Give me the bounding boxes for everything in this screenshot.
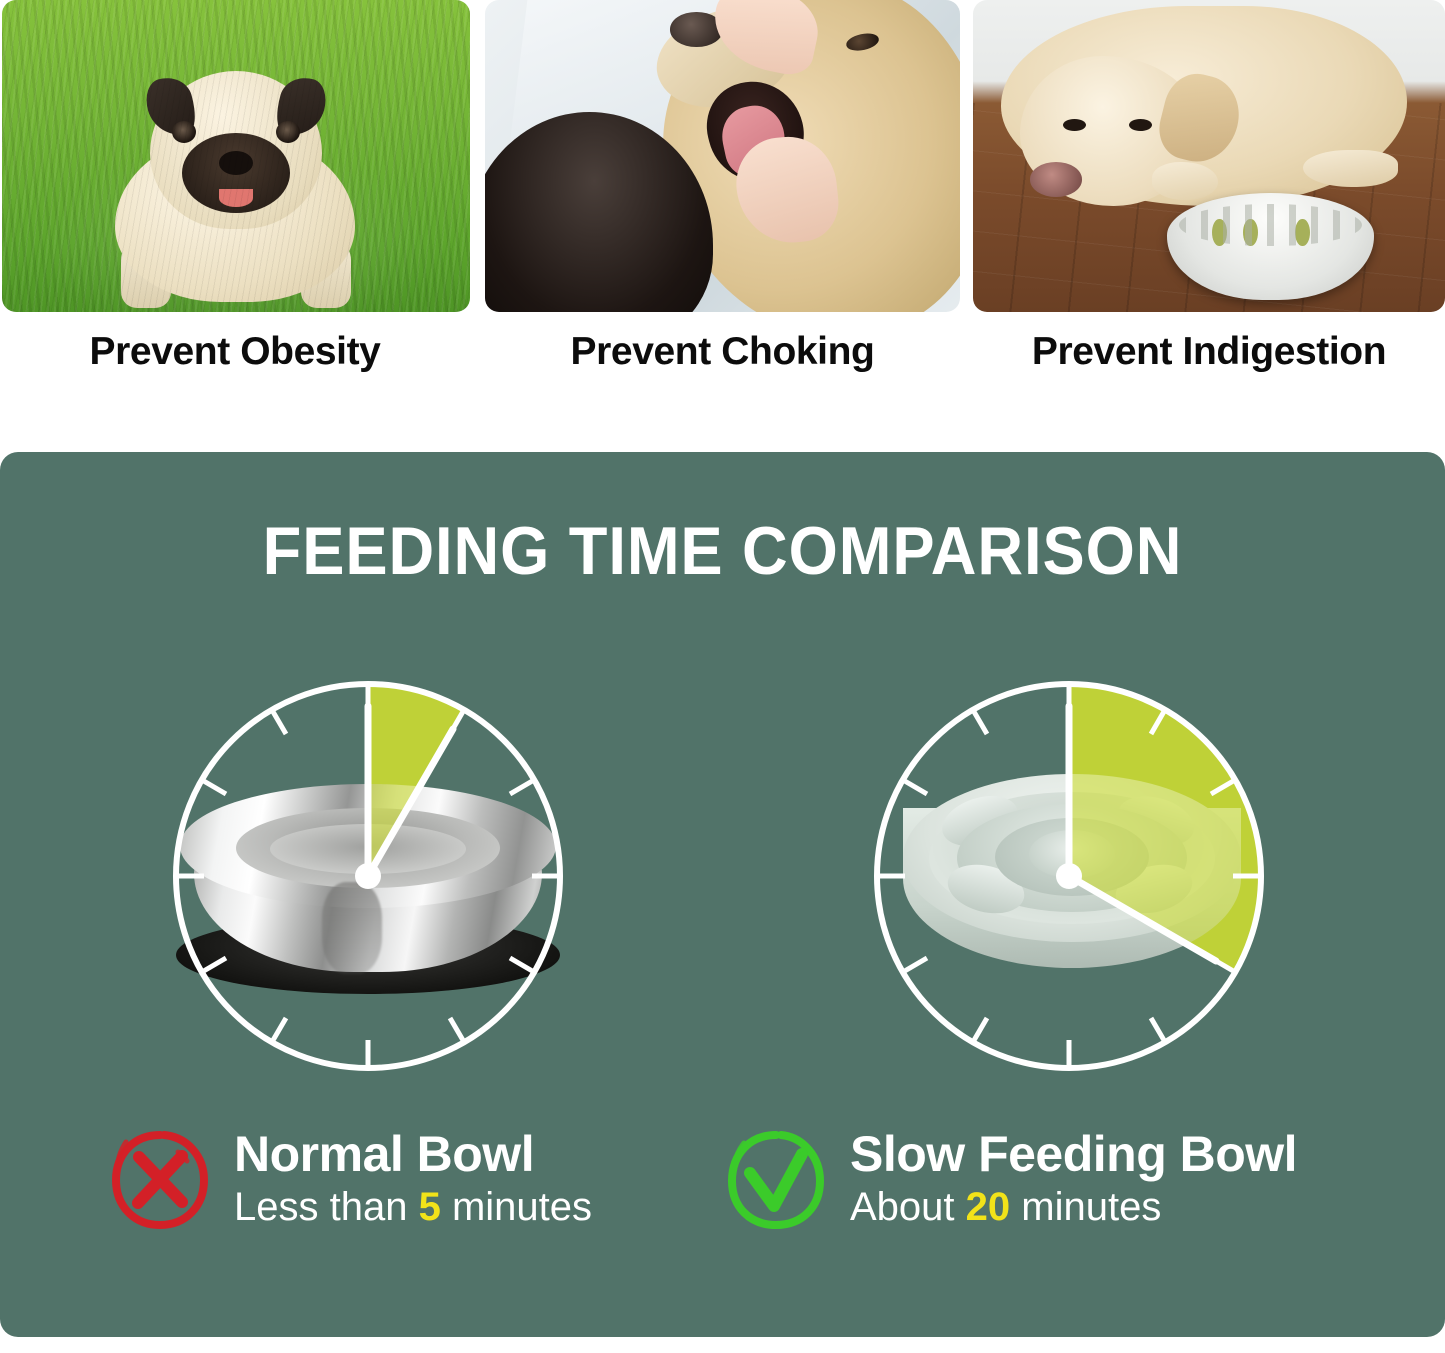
slow-feeder-bowl-art	[859, 666, 1279, 1086]
sub-number-slow: 20	[966, 1185, 1011, 1229]
pug-ear-left	[141, 72, 202, 142]
check-mark-icon	[724, 1128, 828, 1232]
pug-tongue	[219, 189, 253, 207]
bowl-inner-bottom	[270, 824, 466, 874]
pug-illustration	[101, 53, 371, 308]
pug-muzzle	[182, 133, 290, 213]
labrador-paw-front	[1152, 162, 1218, 199]
clock-normal-bowl	[158, 666, 578, 1086]
wooden-floor-background	[973, 0, 1445, 312]
benefit-caption-obesity: Prevent Obesity	[0, 330, 470, 374]
photo-overweight-pug	[2, 0, 470, 312]
label-text-normal: Normal Bowl Less than 5 minutes	[234, 1129, 592, 1232]
label-title-slow: Slow Feeding Bowl	[850, 1129, 1297, 1180]
photo-dog-mouth-check	[485, 0, 960, 312]
pug-ear-right	[271, 72, 332, 142]
comparison-panel: FEEDING TIME COMPARISON	[0, 452, 1445, 1337]
label-sub-normal: Less than 5 minutes	[234, 1182, 592, 1232]
label-slow-feeding-bowl: Slow Feeding Bowl About 20 minutes	[724, 1128, 1297, 1232]
pug-head	[150, 71, 322, 229]
pug-eye-right	[276, 121, 300, 143]
sub-number-normal: 5	[419, 1185, 441, 1229]
bowl-highlight	[322, 882, 382, 974]
benefits-strip: Prevent Obesity Prevent Choking	[0, 0, 1445, 452]
pug-nose	[219, 151, 253, 175]
kibble-piece	[1243, 219, 1258, 247]
cross-mark-icon	[108, 1128, 212, 1232]
kibble-piece	[1212, 219, 1227, 247]
sub-suffix-slow: minutes	[1010, 1185, 1161, 1229]
benefit-caption-choking: Prevent Choking	[485, 330, 960, 374]
pug-body	[115, 134, 355, 302]
pug-front-leg-right	[301, 238, 351, 308]
sub-suffix-normal: minutes	[441, 1185, 592, 1229]
slow-feeder-bowl	[903, 774, 1241, 972]
label-text-slow: Slow Feeding Bowl About 20 minutes	[850, 1129, 1297, 1232]
label-sub-slow: About 20 minutes	[850, 1182, 1297, 1232]
labrador-nose	[1030, 162, 1082, 196]
benefit-caption-indigestion: Prevent Indigestion	[973, 330, 1445, 374]
feeder-spiral-inner	[1029, 830, 1115, 878]
labrador-paw-extended	[1303, 150, 1397, 187]
clock-slow-feeding-bowl	[859, 666, 1279, 1086]
sub-prefix-normal: Less than	[234, 1185, 419, 1229]
label-title-normal: Normal Bowl	[234, 1129, 592, 1180]
stainless-steel-bowl-art	[158, 666, 578, 1086]
sub-prefix-slow: About	[850, 1185, 966, 1229]
kibble-piece	[1295, 219, 1310, 247]
pug-front-leg-left	[121, 238, 171, 308]
clinic-background	[485, 0, 960, 312]
stainless-bowl	[174, 784, 562, 994]
grass-background	[2, 0, 470, 312]
photo-lab-beside-bowl	[973, 0, 1445, 312]
pug-eye-left	[172, 121, 196, 143]
labrador-eye-right	[1129, 119, 1153, 131]
label-normal-bowl: Normal Bowl Less than 5 minutes	[108, 1128, 592, 1232]
labrador-eye-left	[1063, 119, 1087, 131]
comparison-labels: Normal Bowl Less than 5 minutes Slow Fee…	[0, 1128, 1445, 1278]
